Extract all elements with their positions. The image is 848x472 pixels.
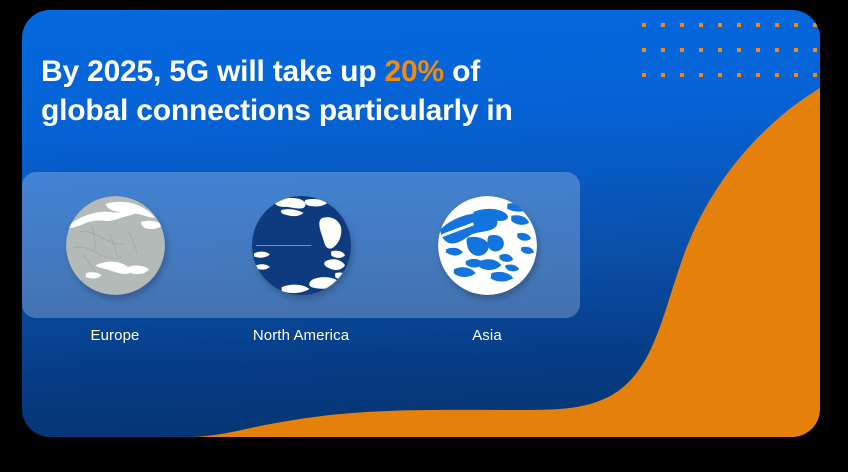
dot xyxy=(661,73,680,98)
dot xyxy=(680,73,699,98)
dot xyxy=(718,48,737,73)
region-label-north-america: North America xyxy=(208,326,394,346)
dot xyxy=(680,48,699,73)
dot xyxy=(699,73,718,98)
dot xyxy=(794,73,813,98)
headline-text-after: of xyxy=(444,55,480,88)
globes-row xyxy=(22,172,580,318)
globe-north-america-icon[interactable] xyxy=(252,196,351,295)
dot xyxy=(813,23,820,48)
region-label-europe: Europe xyxy=(22,326,208,346)
dot xyxy=(661,48,680,73)
dot xyxy=(794,48,813,73)
dot xyxy=(756,23,775,48)
region-item-north-america[interactable] xyxy=(208,172,394,318)
headline: By 2025, 5G will take up 20% of global c… xyxy=(41,52,601,130)
region-item-asia[interactable] xyxy=(394,172,580,318)
dot xyxy=(775,73,794,98)
dot xyxy=(699,48,718,73)
dot xyxy=(680,23,699,48)
region-item-europe[interactable] xyxy=(22,172,208,318)
dot xyxy=(794,23,813,48)
dot xyxy=(775,48,794,73)
headline-text-before: By 2025, 5G will take up xyxy=(41,55,385,88)
slide-canvas: By 2025, 5G will take up 20% of global c… xyxy=(0,0,848,472)
dot xyxy=(737,48,756,73)
dot xyxy=(813,73,820,98)
dot xyxy=(642,73,661,98)
dot xyxy=(699,23,718,48)
dot xyxy=(661,23,680,48)
dot xyxy=(718,73,737,98)
dot xyxy=(756,73,775,98)
headline-highlight-percent: 20% xyxy=(385,55,444,88)
dot xyxy=(775,23,794,48)
dot xyxy=(737,23,756,48)
dot xyxy=(737,73,756,98)
orange-dot-grid xyxy=(642,23,820,98)
dot xyxy=(642,48,661,73)
region-labels-row: Europe North America Asia xyxy=(22,326,580,346)
globe-asia-icon[interactable] xyxy=(438,196,537,295)
dot xyxy=(813,48,820,73)
globe-europe-icon[interactable] xyxy=(66,196,165,295)
region-label-asia: Asia xyxy=(394,326,580,346)
dot xyxy=(756,48,775,73)
dot xyxy=(642,23,661,48)
dot xyxy=(718,23,737,48)
headline-line-2: global connections particularly in xyxy=(41,94,513,127)
